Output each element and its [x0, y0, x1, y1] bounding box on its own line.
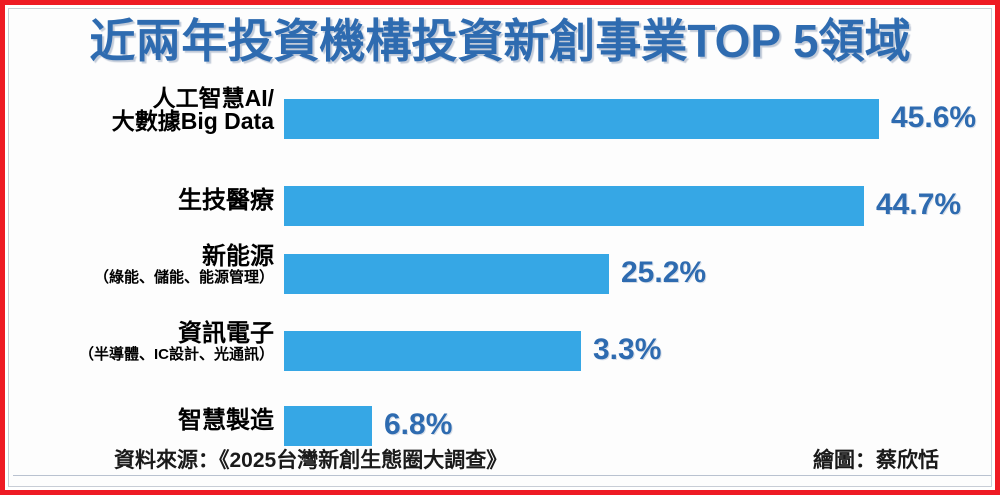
category-label-line1: 生技醫療 [12, 189, 274, 213]
chart-row: 新能源 （綠能、儲能、能源管理） 25.2% [9, 254, 992, 296]
inner-frame: 近兩年投資機構投資新創事業TOP 5領域 人工智慧AI/ 大數據Big Data… [8, 8, 992, 487]
chart-row: 智慧製造 6.8% [9, 406, 992, 448]
bar-value-label: 3.3% [593, 333, 661, 367]
title-area: 近兩年投資機構投資新創事業TOP 5領域 [9, 17, 991, 65]
category-label: 生技醫療 [12, 189, 280, 213]
footer-divider [13, 475, 992, 476]
page-title: 近兩年投資機構投資新創事業TOP 5領域 [89, 17, 910, 65]
category-label-line2: 大數據Big Data [12, 110, 274, 133]
infographic-container: 近兩年投資機構投資新創事業TOP 5領域 人工智慧AI/ 大數據Big Data… [0, 0, 1000, 495]
bar-chart-plot-area: 人工智慧AI/ 大數據Big Data 45.6% 生技醫療 44.7% 新能源… [9, 91, 992, 451]
footer: 資料來源：《2025台灣新創生態圈大調查》 繪圖：蔡欣恬 [9, 444, 992, 478]
credit-note: 繪圖：蔡欣恬 [813, 444, 939, 474]
bar [284, 331, 581, 371]
bar-value-label: 44.7% [876, 188, 961, 222]
category-label-line1: 新能源 [12, 245, 274, 269]
category-label: 新能源 （綠能、儲能、能源管理） [12, 245, 280, 286]
bar [284, 254, 609, 294]
bar-value-label: 45.6% [891, 101, 976, 135]
category-label: 人工智慧AI/ 大數據Big Data [12, 87, 280, 134]
bar [284, 99, 879, 139]
bar [284, 186, 864, 226]
category-sublabel: （半導體、IC設計、光通訊） [12, 347, 274, 362]
chart-row: 資訊電子 （半導體、IC設計、光通訊） 3.3% [9, 331, 992, 373]
source-note: 資料來源：《2025台灣新創生態圈大調查》 [114, 444, 507, 474]
category-sublabel: （綠能、儲能、能源管理） [12, 270, 274, 285]
category-label-line1: 智慧製造 [12, 409, 274, 433]
category-label: 智慧製造 [12, 409, 280, 433]
category-label-line1: 人工智慧AI/ [12, 87, 274, 110]
chart-row: 生技醫療 44.7% [9, 186, 992, 228]
chart-row: 人工智慧AI/ 大數據Big Data 45.6% [9, 99, 992, 141]
bar-value-label: 25.2% [621, 256, 706, 290]
bar [284, 406, 372, 446]
bar-value-label: 6.8% [384, 408, 452, 442]
category-label: 資訊電子 （半導體、IC設計、光通訊） [12, 322, 280, 363]
category-label-line1: 資訊電子 [12, 322, 274, 346]
